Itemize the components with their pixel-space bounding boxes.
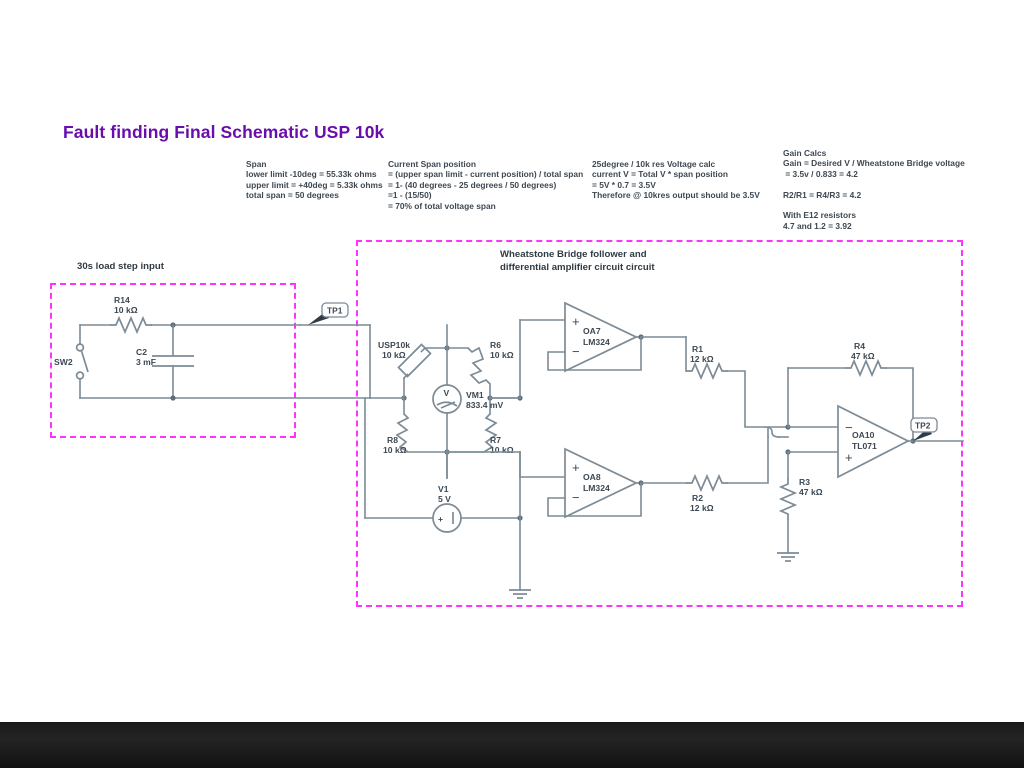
tp2-label: TP2 (915, 421, 931, 431)
wire-r4-to-output (887, 368, 913, 441)
component-oa8[interactable]: + − OA8 LM324 (548, 449, 644, 517)
r14-value: 10 kΩ (114, 305, 138, 315)
usp10k-name: USP10k (378, 340, 410, 350)
component-r1[interactable]: R1 12 kΩ (686, 344, 728, 378)
circuit-diagram: SW2 R14 10 kΩ C2 3 mF (0, 0, 1024, 768)
oa8-name: OA8 (583, 472, 601, 482)
oa10-name: OA10 (852, 430, 875, 440)
ground-symbol-v1 (509, 590, 531, 598)
component-r3[interactable]: R3 47 kΩ (781, 477, 823, 520)
oa10-value: TL071 (852, 441, 877, 451)
oa10-plus-sign: + (845, 450, 853, 465)
oa7-value: LM324 (583, 337, 610, 347)
r6-value: 10 kΩ (490, 350, 514, 360)
vm1-name: VM1 (466, 390, 484, 400)
component-sw2[interactable]: SW2 (54, 325, 88, 398)
node-dot-c2-bottom (170, 395, 175, 400)
r7-value: 10 kΩ (490, 445, 514, 455)
c2-value: 3 mF (136, 357, 156, 367)
r8-name: R8 (387, 435, 398, 445)
r2-value: 12 kΩ (690, 503, 714, 513)
r3-name: R3 (799, 477, 810, 487)
oa7-plus-sign: + (572, 314, 580, 329)
r3-value: 47 kΩ (799, 487, 823, 497)
c2-name: C2 (136, 347, 147, 357)
r2-name: R2 (692, 493, 703, 503)
schematic-canvas: Fault finding Final Schematic USP 10k Sp… (0, 0, 1024, 768)
sw2-label: SW2 (54, 357, 73, 367)
wire-r1-to-oa10-minus (728, 371, 765, 427)
vm1-value: 833.4 mV (466, 400, 504, 410)
test-point-tp1[interactable]: TP1 (308, 303, 348, 325)
tp1-label: TP1 (327, 306, 343, 316)
r1-name: R1 (692, 344, 703, 354)
wire-hop-r1-r2 (765, 427, 779, 437)
oa8-minus-sign: − (572, 490, 580, 505)
component-c2[interactable]: C2 3 mF (136, 325, 194, 398)
component-r2[interactable]: R2 12 kΩ (686, 476, 728, 513)
r8-value: 10 kΩ (383, 445, 407, 455)
test-point-tp2[interactable]: TP2 (911, 418, 937, 441)
component-oa7[interactable]: + − OA7 LM324 (548, 303, 644, 371)
oa8-value: LM324 (583, 483, 610, 493)
v1-name: V1 (438, 484, 449, 494)
component-oa10[interactable]: − + OA10 TL071 (838, 406, 908, 477)
r14-name: R14 (114, 295, 130, 305)
r4-name: R4 (854, 341, 865, 351)
oa7-name: OA7 (583, 326, 601, 336)
component-r14[interactable]: R14 10 kΩ (110, 295, 152, 332)
oa7-minus-sign: − (572, 344, 580, 359)
r1-value: 12 kΩ (690, 354, 714, 364)
component-r4[interactable]: R4 47 kΩ (845, 341, 887, 375)
v1-plus-symbol: + (438, 514, 443, 524)
v1-value: 5 V (438, 494, 451, 504)
usp10k-value: 10 kΩ (382, 350, 406, 360)
r7-name: R7 (490, 435, 501, 445)
component-v1[interactable]: + V1 5 V (433, 484, 461, 532)
vm1-symbol: V (444, 388, 450, 398)
oa8-plus-sign: + (572, 460, 580, 475)
r6-name: R6 (490, 340, 501, 350)
ground-symbol-r3 (777, 553, 799, 561)
wire-r2-to-oa10-plus (728, 437, 768, 483)
footer-bar: CIRCUIT LAB Alim92 / Wheat stone bridge … (0, 722, 1024, 768)
r4-value: 47 kΩ (851, 351, 875, 361)
